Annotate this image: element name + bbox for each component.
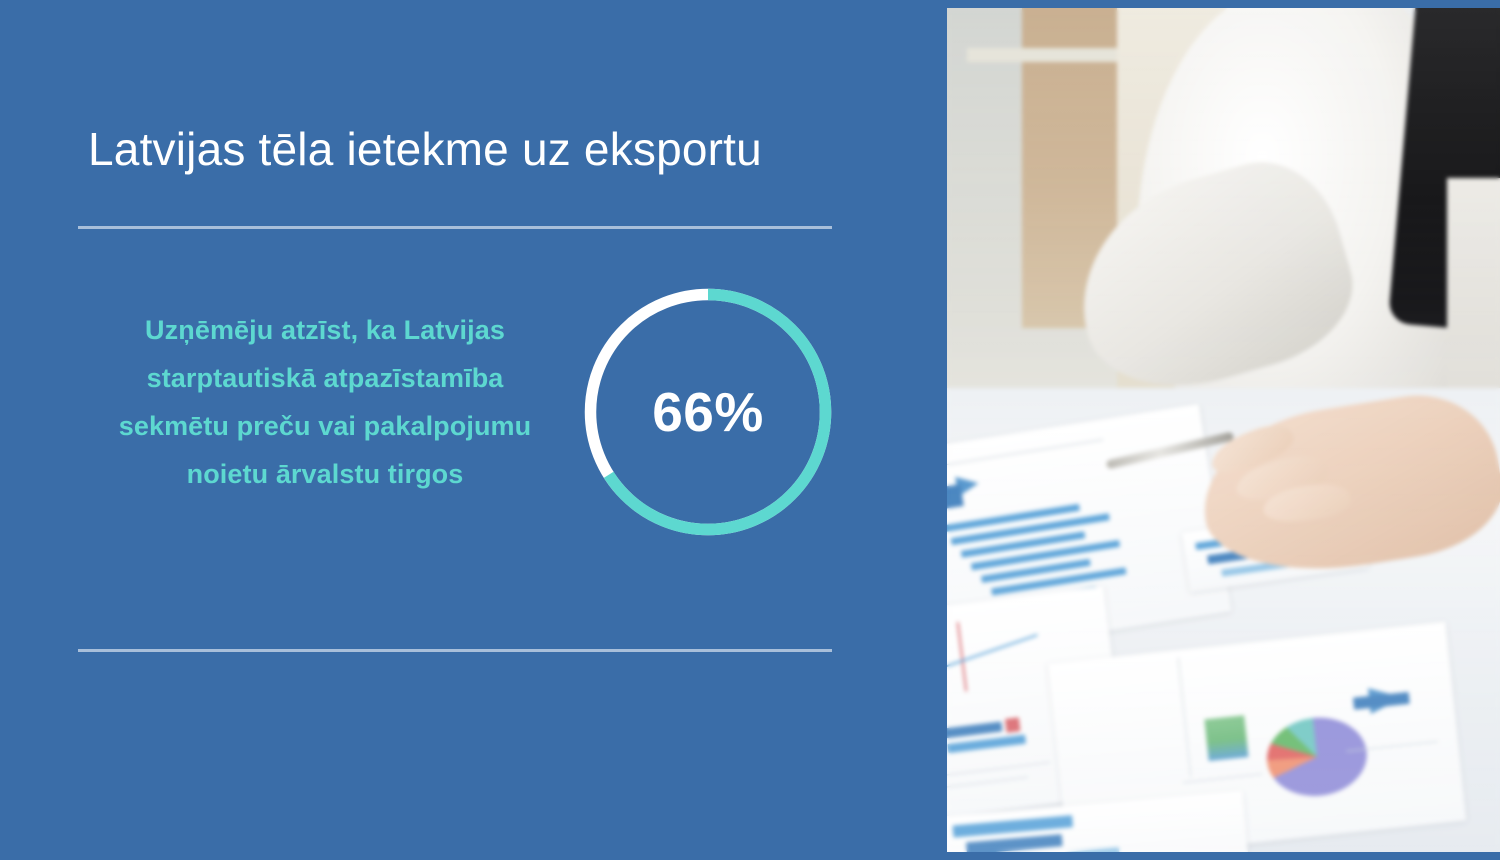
divider-top — [78, 226, 832, 229]
stat-description: Uzņēmēju atzīst, ka Latvijas starptautis… — [110, 306, 540, 498]
photo-rule — [947, 762, 1051, 776]
photo-bar — [947, 721, 1002, 738]
left-content-panel: Latvijas tēla ietekme uz eksportu Uzņēmē… — [0, 0, 947, 860]
donut-chart: 66% — [584, 288, 832, 536]
photo-pie — [1263, 713, 1371, 801]
photo-bar — [966, 834, 1063, 852]
photo-rule — [947, 439, 1103, 468]
photo-rule — [947, 777, 1028, 788]
donut-center-value: 66% — [584, 288, 832, 536]
divider-bottom — [78, 649, 832, 652]
photo-legend-swatch — [1204, 715, 1248, 761]
page-title: Latvijas tēla ietekme uz eksportu — [88, 122, 878, 176]
stat-block: Uzņēmēju atzīst, ka Latvijas starptautis… — [78, 300, 858, 560]
photo-rule — [1178, 658, 1192, 777]
photo-rule — [1183, 774, 1263, 783]
slide-root: Latvijas tēla ietekme uz eksportu Uzņēmē… — [0, 0, 1500, 860]
photo-axis — [957, 622, 968, 692]
photo-marker — [1005, 717, 1021, 733]
photo-bar — [948, 735, 1027, 753]
photo-scene — [947, 8, 1500, 852]
business-documents-photo — [947, 8, 1500, 852]
